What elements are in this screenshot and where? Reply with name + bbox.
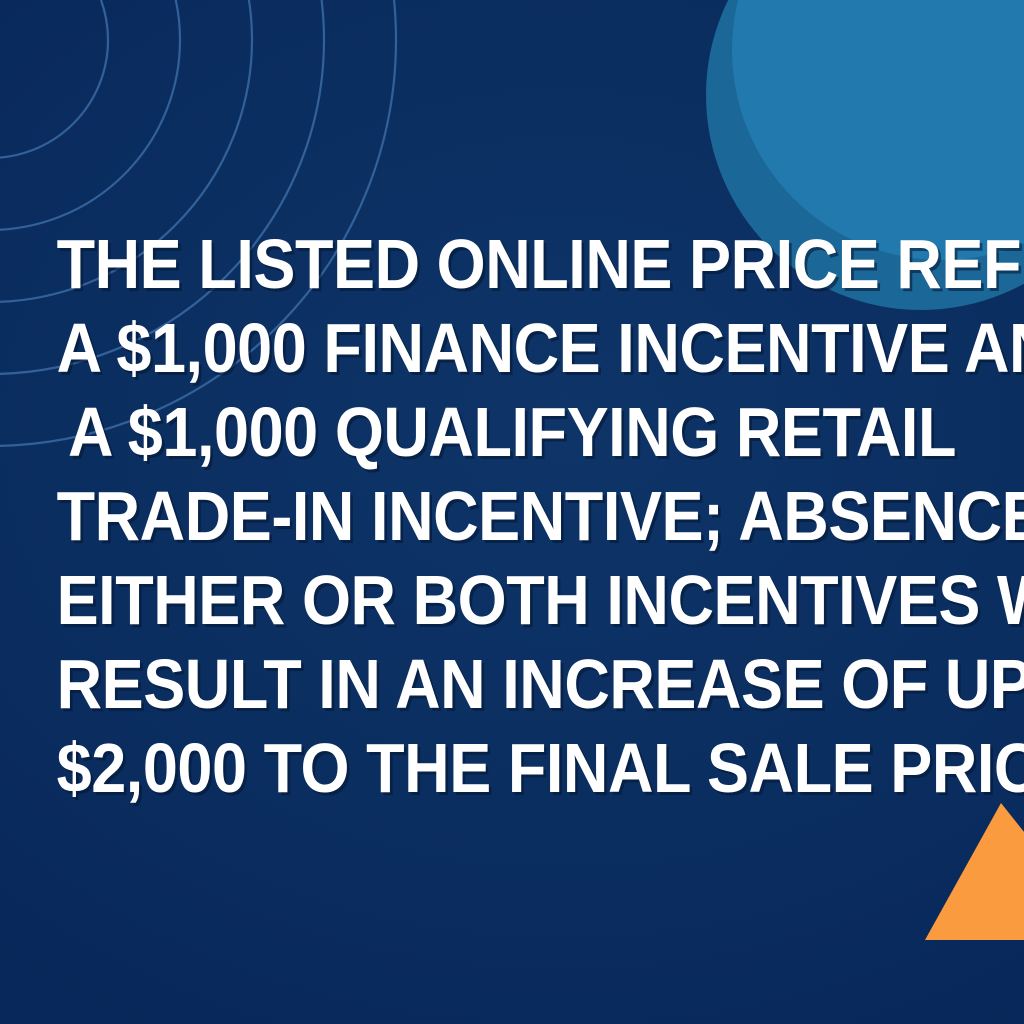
headline-line-3: A $1,000 QUALIFYING RETAIL bbox=[57, 390, 968, 474]
headline-line-5: EITHER OR BOTH INCENTIVES WILL bbox=[57, 558, 968, 642]
headline-line-4: TRADE-IN INCENTIVE; ABSENCE OF bbox=[57, 474, 968, 558]
headline-line-2: A $1,000 FINANCE INCENTIVE AND bbox=[57, 306, 968, 390]
disclaimer-graphic: THE LISTED ONLINE PRICE REFLECTS A $1,00… bbox=[0, 0, 1024, 1024]
disclaimer-headline: THE LISTED ONLINE PRICE REFLECTS A $1,00… bbox=[0, 222, 1024, 810]
headline-line-1: THE LISTED ONLINE PRICE REFLECTS bbox=[57, 222, 968, 306]
headline-line-7: $2,000 TO THE FINAL SALE PRICE. bbox=[57, 726, 968, 810]
bottom-right-triangle-decoration bbox=[920, 800, 1024, 940]
headline-line-6: RESULT IN AN INCREASE OF UP TO bbox=[57, 642, 968, 726]
